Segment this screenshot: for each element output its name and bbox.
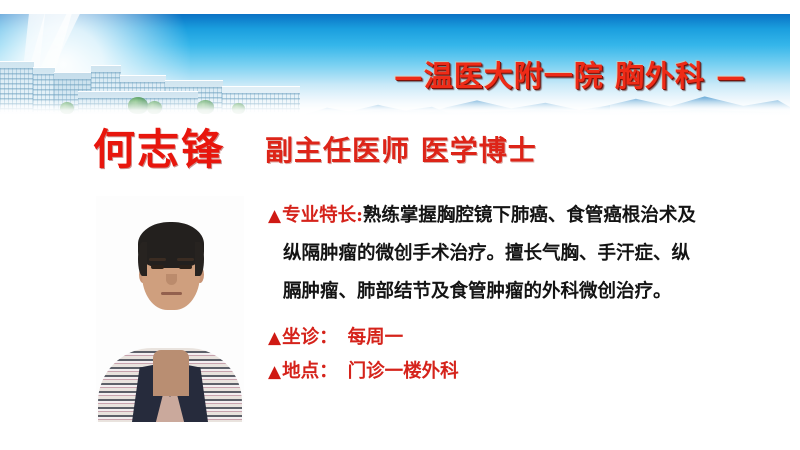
specialty-label: 专业特长: bbox=[282, 205, 363, 226]
clinic-day-row: ▲坐诊：每周一 bbox=[268, 322, 768, 354]
eyebrow-right bbox=[177, 258, 194, 261]
banner-title: —温医大附一院 胸外科 — bbox=[360, 59, 780, 93]
location-row: ▲地点：门诊一楼外科 bbox=[268, 356, 768, 388]
specialty-line-1-body: 熟练掌握胸腔镜下肺癌、食管癌根治术及 bbox=[363, 205, 696, 226]
location-label: 地点： bbox=[282, 361, 338, 382]
doctor-profile-poster: —温医大附一院 胸外科 — 何志锋 副主任医师 医学博士 ▲专业特长:熟练掌握胸… bbox=[0, 0, 800, 450]
hair-side-left bbox=[138, 242, 147, 276]
neck bbox=[153, 350, 189, 396]
specialty-line-2: 纵隔肿瘤的微创手术治疗。擅长气胸、手汗症、纵 bbox=[268, 236, 768, 272]
specialty-line-2-body: 纵隔肿瘤的微创手术治疗。擅长气胸、手汗症、纵 bbox=[283, 243, 690, 264]
specialty-line-1: ▲专业特长:熟练掌握胸腔镜下肺癌、食管癌根治术及 bbox=[268, 198, 768, 234]
schedule-block: ▲坐诊：每周一 ▲地点：门诊一楼外科 bbox=[268, 322, 768, 390]
specialty-block: ▲专业特长:熟练掌握胸腔镜下肺癌、食管癌根治术及 纵隔肿瘤的微创手术治疗。擅长气… bbox=[268, 198, 768, 312]
nose bbox=[166, 274, 177, 285]
location-value: 门诊一楼外科 bbox=[348, 361, 459, 382]
triangle-bullet-icon: ▲ bbox=[268, 328, 281, 348]
doctor-name: 何志锋 bbox=[93, 126, 225, 174]
eye-right bbox=[179, 265, 192, 269]
horizon-haze bbox=[0, 98, 790, 118]
specialty-line-3: 膈肿瘤、肺部结节及食管肿瘤的外科微创治疗。 bbox=[268, 274, 768, 310]
clinic-day-label: 坐诊： bbox=[282, 327, 338, 348]
doctor-name-row: 何志锋 副主任医师 医学博士 bbox=[0, 126, 800, 178]
mouth bbox=[161, 292, 182, 295]
eyebrow-left bbox=[149, 258, 166, 261]
triangle-bullet-icon: ▲ bbox=[268, 206, 281, 226]
hair-side-right bbox=[195, 242, 204, 276]
triangle-bullet-icon: ▲ bbox=[268, 362, 281, 382]
doctor-title: 副主任医师 医学博士 bbox=[265, 134, 537, 168]
eye-left bbox=[151, 265, 164, 269]
specialty-line-3-body: 膈肿瘤、肺部结节及食管肿瘤的外科微创治疗。 bbox=[283, 281, 672, 302]
doctor-portrait-photo bbox=[96, 196, 244, 422]
clinic-day-value: 每周一 bbox=[348, 327, 404, 348]
header-banner: —温医大附一院 胸外科 — bbox=[0, 14, 790, 118]
